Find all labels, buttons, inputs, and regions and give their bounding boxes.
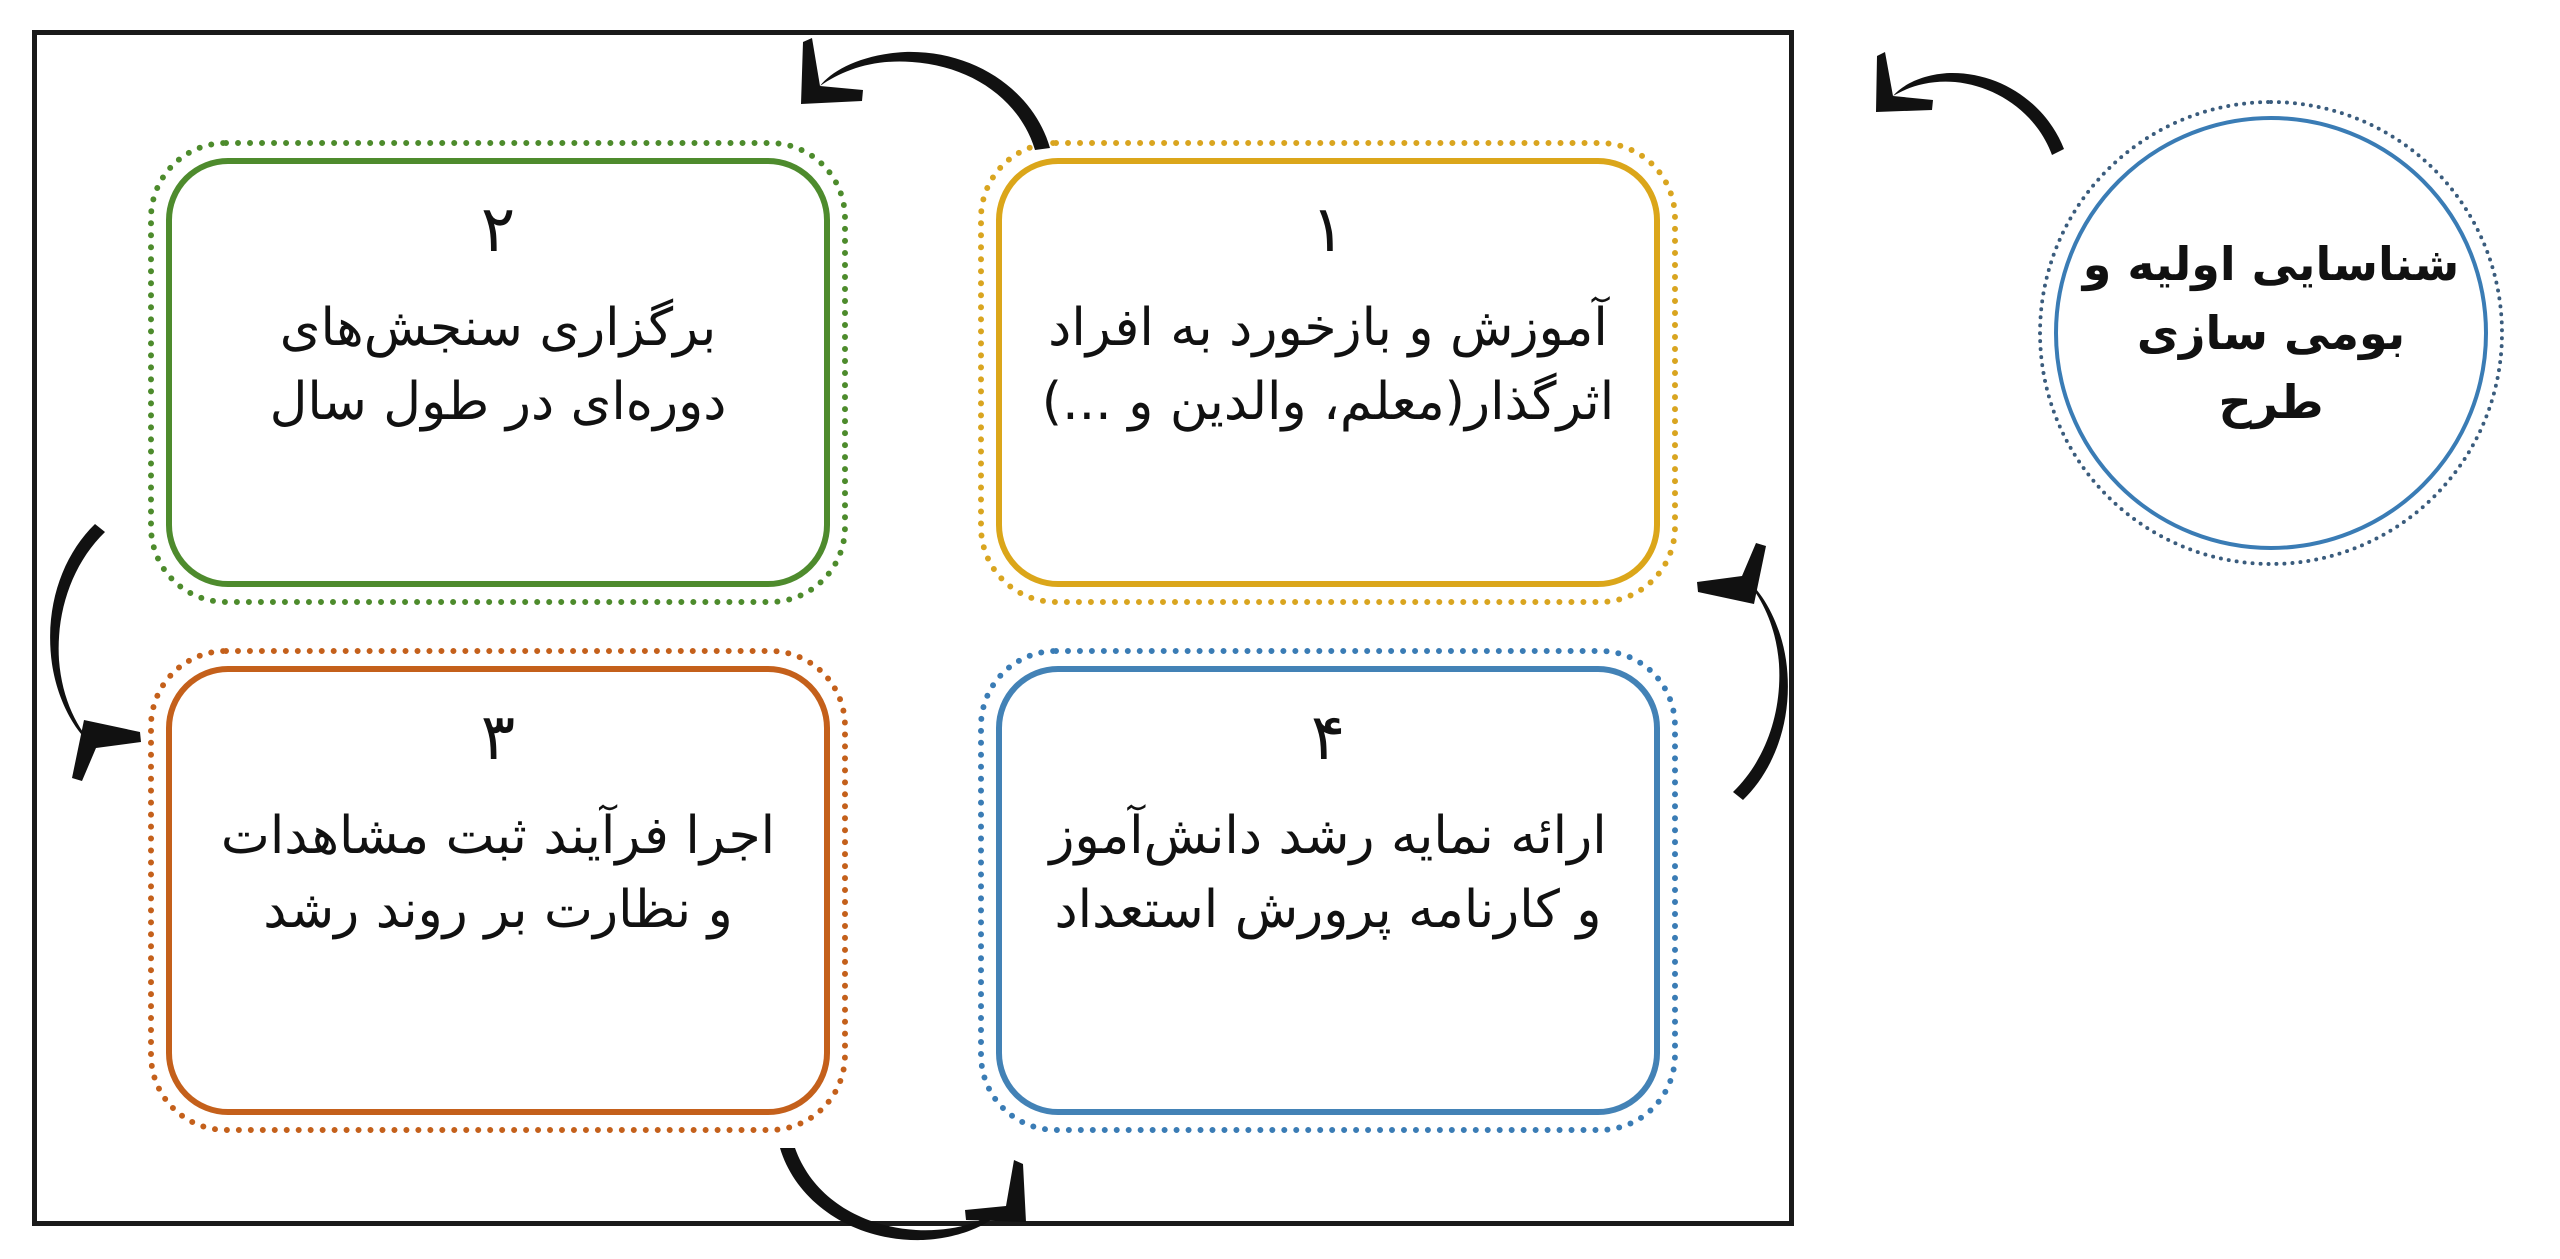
step-box-3-label: اجرا فرآیند ثبت مشاهدات و نظارت بر روند … xyxy=(172,800,824,948)
step-box-4-number: ۴ xyxy=(1311,706,1345,770)
step-box-1-label: آموزش و بازخورد به افراد اثرگذار(معلم، و… xyxy=(1002,292,1654,440)
step-box-1-number: ۱ xyxy=(1311,198,1345,262)
step-box-3[interactable]: ۳ اجرا فرآیند ثبت مشاهدات و نظارت بر رون… xyxy=(148,648,848,1133)
step-box-2-label: برگزاری سنجش‌های دوره‌ای در طول سال xyxy=(172,292,824,440)
entry-circle-label: شناسایی اولیه و بومی سازی طرح xyxy=(2058,230,2484,437)
step-box-4-body: ۴ ارائه نمایه رشد دانش‌آموز و کارنامه پر… xyxy=(996,666,1660,1115)
step-box-4[interactable]: ۴ ارائه نمایه رشد دانش‌آموز و کارنامه پر… xyxy=(978,648,1678,1133)
step-box-1-body: ۱ آموزش و بازخورد به افراد اثرگذار(معلم،… xyxy=(996,158,1660,587)
step-box-3-body: ۳ اجرا فرآیند ثبت مشاهدات و نظارت بر رون… xyxy=(166,666,830,1115)
entry-circle-body: شناسایی اولیه و بومی سازی طرح xyxy=(2054,116,2488,550)
step-box-3-number: ۳ xyxy=(481,706,515,770)
entry-circle[interactable]: شناسایی اولیه و بومی سازی طرح xyxy=(2038,100,2504,566)
arrow-entry-to-cycle-icon xyxy=(1876,52,2064,155)
step-box-2-number: ۲ xyxy=(481,198,515,262)
step-box-1[interactable]: ۱ آموزش و بازخورد به افراد اثرگذار(معلم،… xyxy=(978,140,1678,605)
step-box-4-label: ارائه نمایه رشد دانش‌آموز و کارنامه پرور… xyxy=(1002,800,1654,948)
diagram-canvas: ۲ برگزاری سنجش‌های دوره‌ای در طول سال ۱ … xyxy=(0,0,2560,1259)
step-box-2[interactable]: ۲ برگزاری سنجش‌های دوره‌ای در طول سال xyxy=(148,140,848,605)
step-box-2-body: ۲ برگزاری سنجش‌های دوره‌ای در طول سال xyxy=(166,158,830,587)
